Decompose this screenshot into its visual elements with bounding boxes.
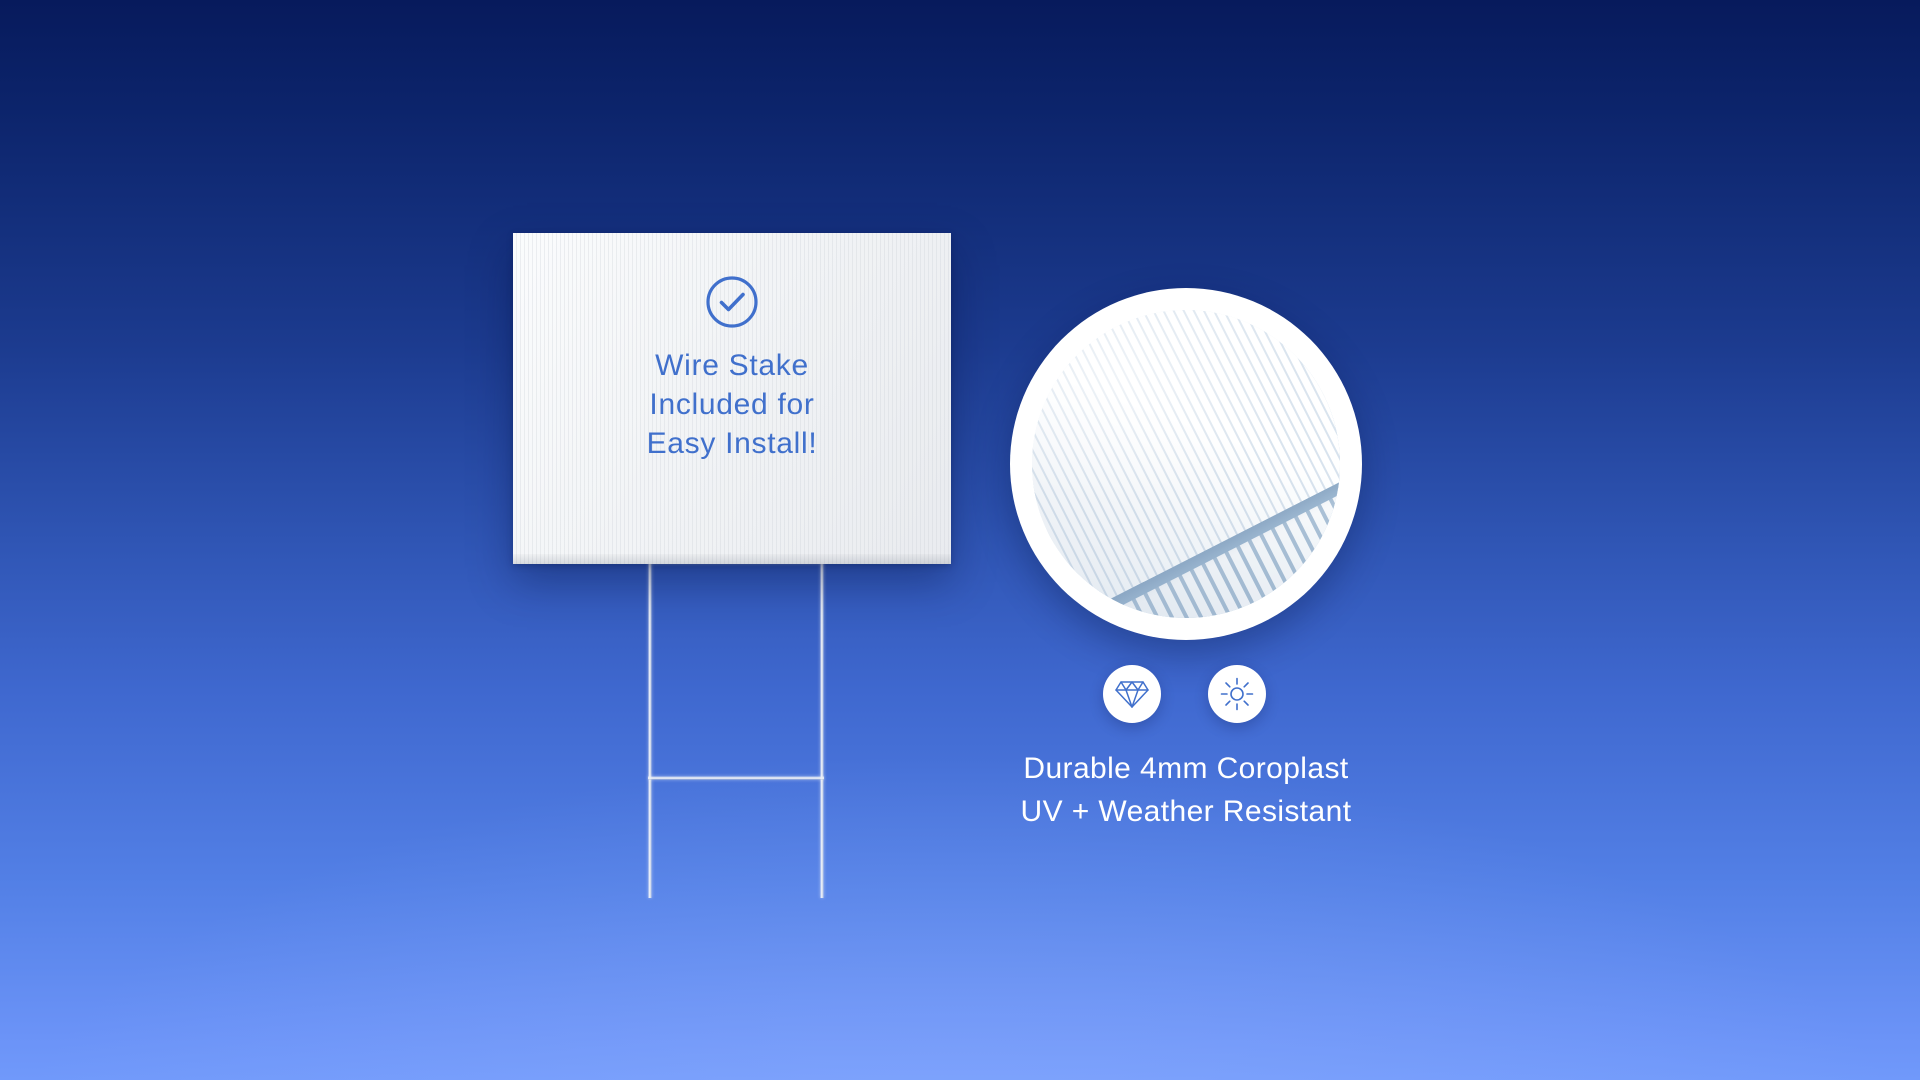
sun-icon bbox=[1220, 677, 1254, 711]
feature-caption-line-1: Durable 4mm Coroplast bbox=[1021, 748, 1352, 791]
sign-headline-line-3: Easy Install! bbox=[647, 424, 818, 463]
feature-badge-row bbox=[1103, 665, 1266, 723]
wire-stake-cross-bar bbox=[648, 776, 824, 780]
yard-sign-board: Wire Stake Included for Easy Install! bbox=[513, 233, 951, 564]
graphic-stage: Wire Stake Included for Easy Install! bbox=[0, 0, 1920, 1080]
sign-headline: Wire Stake Included for Easy Install! bbox=[647, 346, 818, 463]
feature-caption: Durable 4mm Coroplast UV + Weather Resis… bbox=[1021, 748, 1352, 833]
background-glow bbox=[0, 580, 1920, 1080]
diamond-icon bbox=[1115, 679, 1149, 709]
feature-caption-line-2: UV + Weather Resistant bbox=[1021, 791, 1352, 834]
coroplast-photo-shading bbox=[1032, 310, 1340, 618]
coroplast-inset-circle bbox=[1010, 288, 1362, 640]
check-circle-icon bbox=[704, 274, 760, 330]
sign-headline-line-1: Wire Stake bbox=[647, 346, 818, 385]
coroplast-photo bbox=[1032, 310, 1340, 618]
badge-uv-resistant bbox=[1208, 665, 1266, 723]
sign-headline-line-2: Included for bbox=[647, 385, 818, 424]
badge-durable bbox=[1103, 665, 1161, 723]
